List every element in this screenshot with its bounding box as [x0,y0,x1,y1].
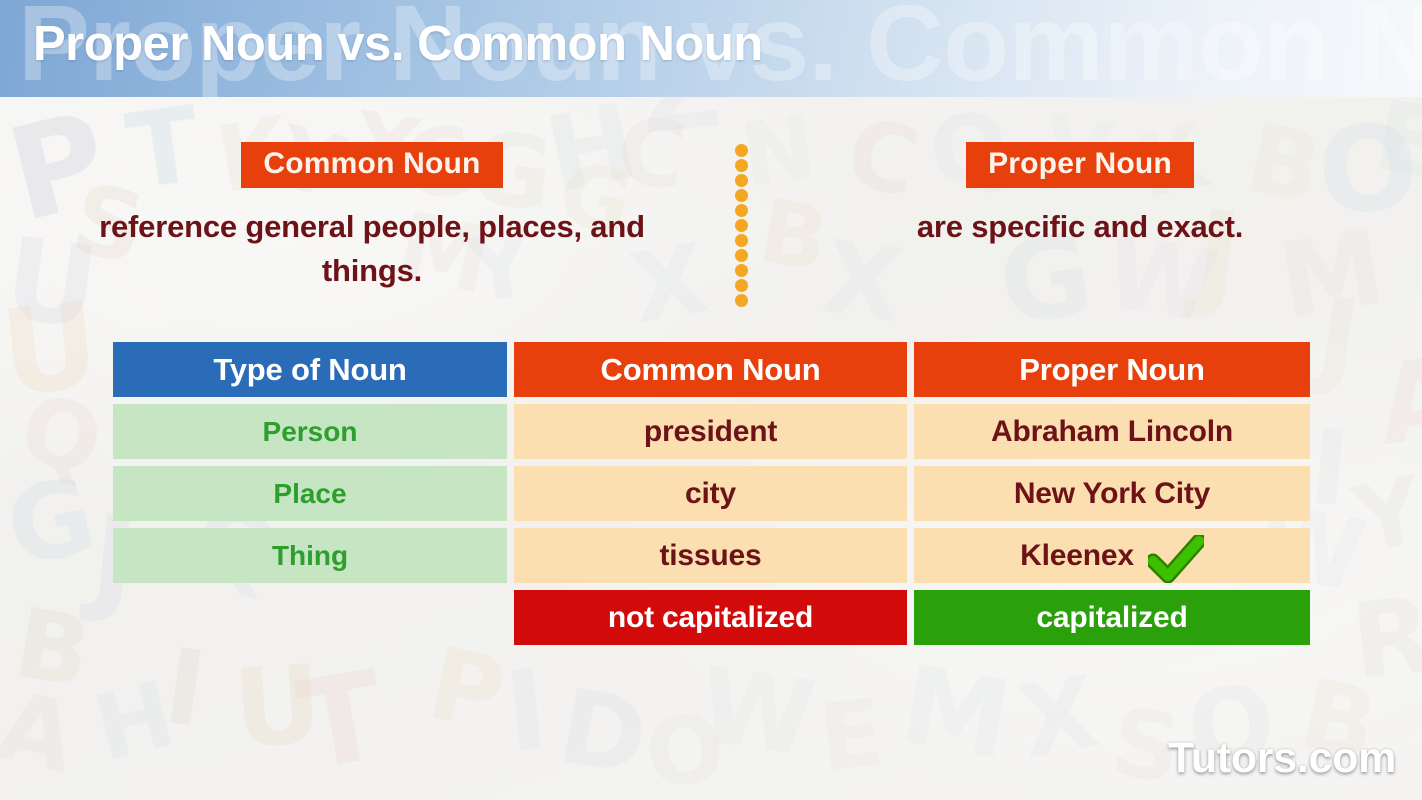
page-title: Proper Noun vs. Common Noun [33,18,763,72]
background-letter-x-50: X [1012,662,1105,774]
proper-noun-description: are specific and exact. [830,205,1330,249]
background-letter-y-44: Y [1347,464,1422,568]
background-letter-b-7: B [8,594,97,701]
slide-root: PUSTUQGBJHIUAKYQTPIDXCGMYHCZGXBXGCQWJMBO… [0,0,1422,800]
divider-dot [735,174,748,187]
divider-dot [735,249,748,262]
background-letter-w-53: W [693,653,821,772]
background-letter-g-6: G [0,462,103,581]
table-header-type-of-noun: Type of Noun [113,342,507,397]
footer-type-spacer [113,590,507,645]
row-proper-person: Abraham Lincoln [914,404,1310,459]
comparison-table: Type of Noun Common Noun Proper Noun Per… [113,342,1310,652]
footer-capitalized: capitalized [914,590,1310,645]
proper-noun-pill: Proper Noun [966,142,1194,188]
common-noun-description: reference general people, places, and th… [92,205,652,293]
row-proper-thing: Kleenex [1020,541,1134,571]
table-header-proper-noun: Proper Noun [914,342,1310,397]
table-header-row: Type of Noun Common Noun Proper Noun [113,342,1310,397]
background-letter-a-12: A [0,676,85,787]
table-row: Thing tissues Kleenex [113,528,1310,583]
row-common-thing: tissues [514,528,907,583]
row-proper-thing-cell: Kleenex [914,528,1310,583]
row-type-place: Place [113,466,507,521]
definition-column-common-noun: Common Noun reference general people, pl… [92,142,652,293]
divider-dot [735,264,748,277]
background-letter-e-40: E [1368,87,1422,193]
dotted-vertical-divider [735,144,748,308]
table-row: Person president Abraham Lincoln [113,404,1310,459]
definition-column-proper-noun: Proper Noun are specific and exact. [830,142,1330,249]
table-row: Place city New York City [113,466,1310,521]
background-letter-o-39: O [1314,107,1422,232]
background-letter-m-51: M [893,651,1018,776]
background-letter-t-16: T [290,654,393,789]
divider-dot [735,144,748,157]
background-letter-o-54: O [640,701,730,800]
background-letter-q-5: Q [11,381,112,491]
divider-dot [735,219,748,232]
green-check-icon [1148,535,1204,583]
divider-dot [735,294,748,307]
row-type-thing: Thing [113,528,507,583]
row-common-person: president [514,404,907,459]
background-letter-h-9: H [86,668,183,776]
background-letter-i-18: I [500,654,552,768]
divider-dot [735,189,748,202]
row-proper-place: New York City [914,466,1310,521]
divider-dot [735,204,748,217]
row-type-person: Person [113,404,507,459]
divider-dot [735,234,748,247]
footer-not-capitalized: not capitalized [514,590,907,645]
common-noun-pill: Common Noun [241,142,502,188]
table-header-common-noun: Common Noun [514,342,907,397]
background-letter-u-1: U [0,222,104,346]
background-letter-d-19: D [552,673,655,790]
background-letter-e-52: E [815,687,887,785]
header-band: Proper Noun vs. Common Noun Proper Noun … [0,0,1422,97]
background-letter-j-41: J [1311,284,1366,397]
background-letter-i-43: I [1305,414,1354,521]
row-common-place: city [514,466,907,521]
background-letter-b-30: B [753,187,834,285]
table-footer-row: not capitalized capitalized [113,590,1310,645]
background-letter-n-57: N [736,103,821,200]
background-letter-a-42: A [1371,341,1422,462]
background-letter-u-11: U [230,651,325,765]
divider-dot [735,279,748,292]
divider-dot [735,159,748,172]
background-letter-u-4: U [0,285,104,412]
background-letter-r-46: R [1347,582,1422,694]
tutors-logo: Tutors.com [1168,737,1396,780]
